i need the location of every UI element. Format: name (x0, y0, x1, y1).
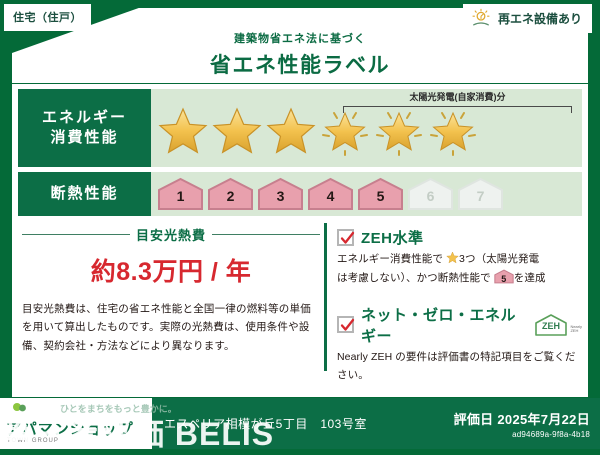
logo-tagline: ひとをまちをもっと豊かに。 (60, 402, 177, 415)
zeh-standard-title: ZEH水準 (361, 227, 424, 248)
zeh-logo-sub2: ZEH (570, 329, 582, 333)
energy-rating-area: 太陽光発電(自家消費)分 (151, 89, 582, 167)
insulation-level-7: 7 (457, 177, 504, 211)
svg-text:ZEH: ZEH (542, 321, 560, 331)
utility-cost-heading-label: 目安光熱費 (136, 225, 206, 244)
renewable-energy-badge-label: 再エネ設備あり (498, 10, 582, 27)
insulation-level-1-label: 1 (157, 188, 204, 204)
details-section: 目安光熱費 約8.3万円 / 年 目安光熱費は、住宅の省エネ性能と全国一律の燃料… (18, 223, 582, 371)
zeh-house-icon: ZEH (533, 313, 569, 337)
energy-label-line2: 消費性能 (50, 128, 118, 148)
check-icon (340, 318, 355, 333)
insulation-level-scale: 1 2 3 4 5 (151, 177, 504, 211)
insulation-level-6: 6 (407, 177, 454, 211)
star-icon-filled-1 (157, 105, 209, 157)
zeh-logo-subtext: Nearly ZEH (570, 325, 582, 337)
zeh-net-zero-header: ネット・ゼロ・エネルギー ZEH Nearly ZEH (337, 304, 582, 346)
zeh-net-zero-description: Nearly ZEH の要件は評価書の特記項目をご覧ください。 (337, 349, 582, 385)
insulation-performance-label-box: 断熱性能 (18, 172, 151, 216)
document-id: ad94689a-9f8a-4b18 (454, 430, 590, 439)
zeh-item-net-zero: ネット・ゼロ・エネルギー ZEH Nearly ZEH (337, 304, 582, 385)
insulation-level-2-label: 2 (207, 188, 254, 204)
zeh-desc-part1: エネルギー消費性能で (337, 253, 443, 265)
evaluation-date: 評価日 2025年7月22日 (454, 409, 590, 428)
insulation-level-7-label: 7 (457, 188, 504, 204)
inline-insulation-badge: 5 (494, 269, 514, 284)
check-icon (340, 231, 355, 246)
zeh-desc-part2: は考慮しない）、かつ断熱性能で (337, 272, 491, 284)
zeh-standard-header: ZEH水準 (337, 227, 582, 248)
insulation-level-3-label: 3 (257, 188, 304, 204)
sun-icon (470, 8, 492, 28)
energy-performance-row: エネルギー 消費性能 太陽光発電(自家消費)分 (18, 89, 582, 167)
footer-bar: アパマンショップ TOWN GROUP エスペリア相模が丘5丁目 103号室 評… (0, 398, 600, 449)
property-address: エスペリア相模が丘5丁目 103号室 (152, 415, 454, 432)
insulation-level-5: 5 (357, 177, 404, 211)
star-icon-filled-2 (211, 105, 263, 157)
insulation-performance-row: 断熱性能 1 2 3 (18, 172, 582, 216)
company-logo-name: アパマンショップ (6, 418, 134, 439)
insulation-level-4: 4 (307, 177, 354, 211)
insulation-level-3: 3 (257, 177, 304, 211)
star-icon-solar-4 (319, 105, 371, 157)
zeh-net-zero-checkbox[interactable] (337, 316, 354, 333)
inline-badge-value: 5 (494, 272, 514, 287)
insulation-level-6-label: 6 (407, 188, 454, 204)
renewable-energy-badge: 再エネ設備あり (463, 4, 592, 33)
solar-annotation-label: 太陽光発電(自家消費)分 (341, 90, 574, 103)
utility-cost-heading: 目安光熱費 (22, 225, 320, 244)
zeh-item-standard: ZEH水準 エネルギー消費性能で 3つ（太陽光発電 は考慮しない）、かつ断熱性能… (337, 227, 582, 288)
energy-performance-label: 住宅（住戸） 再エネ設備あり 建築物省エネ法に基づく 省エネ性能ラベル エネルギ… (0, 0, 600, 449)
energy-label-line1: エネルギー (42, 108, 127, 128)
zeh-standard-description: エネルギー消費性能で 3つ（太陽光発電 は考慮しない）、かつ断熱性能で 5 を達… (337, 251, 582, 288)
tree-icon (12, 402, 28, 416)
heading-rule-right (212, 234, 320, 235)
evaluation-info: 評価日 2025年7月22日 ad94689a-9f8a-4b18 (454, 409, 600, 439)
zeh-block: ZEH水準 エネルギー消費性能で 3つ（太陽光発電 は考慮しない）、かつ断熱性能… (324, 223, 582, 371)
star-icon-solar-5 (373, 105, 425, 157)
star-icon-filled-3 (265, 105, 317, 157)
zeh-desc-stars: 3つ（太陽光発電 (459, 253, 539, 265)
insulation-level-2: 2 (207, 177, 254, 211)
company-logo-sub: TOWN GROUP (7, 438, 59, 444)
heading-rule-left (22, 234, 130, 235)
label-body: エネルギー 消費性能 太陽光発電(自家消費)分 (12, 84, 588, 397)
title-main: 省エネ性能ラベル (0, 49, 600, 79)
utility-cost-note: 目安光熱費は、住宅の省エネ性能と全国一律の燃料等の単価を用いて算出したものです。… (22, 300, 320, 355)
zeh-net-zero-title: ネット・ゼロ・エネルギー (361, 304, 523, 346)
label-title: 建築物省エネ法に基づく 省エネ性能ラベル (0, 30, 600, 79)
zeh-standard-checkbox[interactable] (337, 229, 354, 246)
star-icon-solar-6 (427, 105, 479, 157)
insulation-rating-area: 1 2 3 4 5 (151, 172, 582, 216)
insulation-level-5-label: 5 (357, 188, 404, 204)
utility-cost-value: 約8.3万円 / 年 (22, 252, 320, 288)
insulation-level-4-label: 4 (307, 188, 354, 204)
insulation-level-1: 1 (157, 177, 204, 211)
zeh-desc-part3: を達成 (514, 272, 546, 284)
utility-cost-block: 目安光熱費 約8.3万円 / 年 目安光熱費は、住宅の省エネ性能と全国一律の燃料… (18, 223, 324, 371)
inline-star-icon (446, 251, 459, 264)
energy-performance-label-box: エネルギー 消費性能 (18, 89, 151, 167)
housing-type-tag: 住宅（住戸） (4, 4, 91, 31)
energy-star-rating (151, 105, 479, 157)
zeh-logo: ZEH Nearly ZEH (530, 313, 582, 337)
